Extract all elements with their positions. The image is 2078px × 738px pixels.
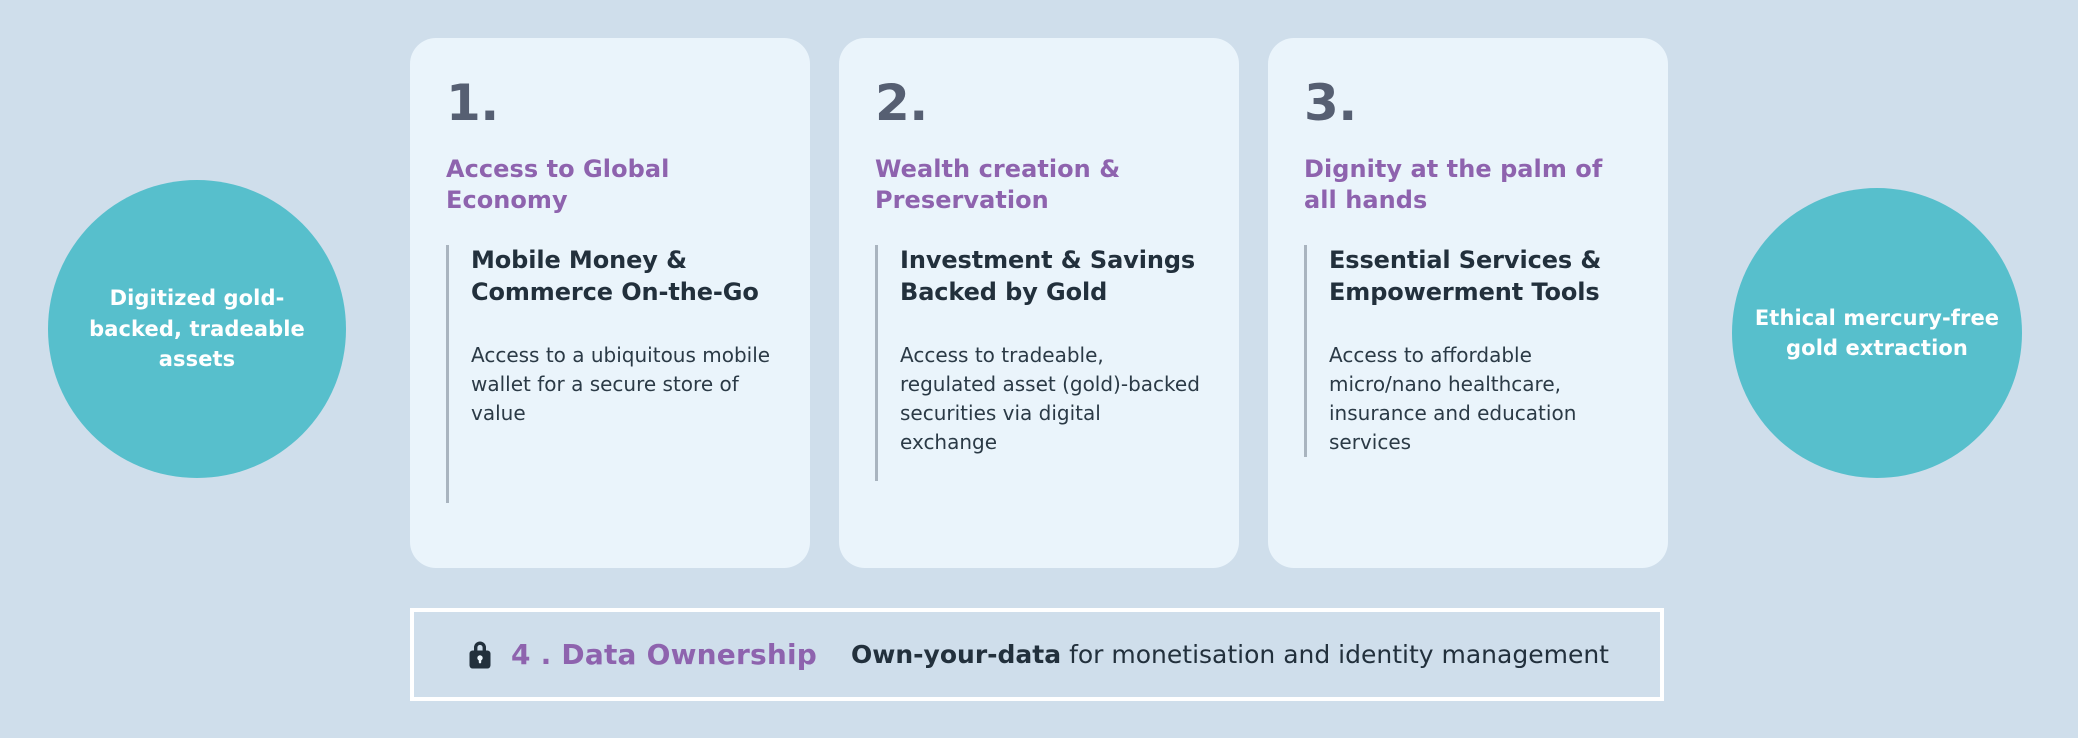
banner-bold-text: Own-your-data	[851, 640, 1061, 669]
card-subtitle: Essential Services & Empowerment Tools	[1329, 245, 1632, 308]
card-subtitle: Mobile Money & Commerce On-the-Go	[471, 245, 774, 308]
card-body-wrap: Essential Services & Empowerment Tools A…	[1304, 245, 1632, 456]
card-heading: Wealth creation & Preservation	[875, 154, 1203, 215]
diagram-canvas: Digitized gold-backed, tradeable assets …	[0, 0, 2078, 738]
card-description: Access to a ubiquitous mobile wallet for…	[471, 341, 774, 428]
card-heading: Access to Global Economy	[446, 154, 774, 215]
right-circle-badge: Ethical mercury-free gold extraction	[1732, 188, 2022, 478]
vertical-divider	[875, 245, 878, 481]
card-body: Mobile Money & Commerce On-the-Go Access…	[471, 245, 774, 503]
card-subtitle: Investment & Savings Backed by Gold	[900, 245, 1203, 308]
right-circle-label: Ethical mercury-free gold extraction	[1732, 303, 2022, 364]
card-body: Investment & Savings Backed by Gold Acce…	[900, 245, 1203, 481]
card-description: Access to affordable micro/nano healthca…	[1329, 341, 1632, 457]
card-body-wrap: Mobile Money & Commerce On-the-Go Access…	[446, 245, 774, 503]
card-body-wrap: Investment & Savings Backed by Gold Acce…	[875, 245, 1203, 481]
banner-rest-text: for monetisation and identity management	[1061, 640, 1609, 669]
pillar-card-group: 1. Access to Global Economy Mobile Money…	[410, 38, 1668, 568]
card-number: 3.	[1304, 78, 1632, 128]
vertical-divider	[446, 245, 449, 503]
card-body: Essential Services & Empowerment Tools A…	[1329, 245, 1632, 456]
banner-description: Own-your-data for monetisation and ident…	[851, 640, 1609, 669]
data-ownership-banner[interactable]: 4 . Data Ownership Own-your-data for mon…	[410, 608, 1664, 701]
card-heading: Dignity at the palm of all hands	[1304, 154, 1632, 215]
card-number: 1.	[446, 78, 774, 128]
card-number: 2.	[875, 78, 1203, 128]
card-description: Access to tradeable, regulated asset (go…	[900, 341, 1203, 457]
vertical-divider	[1304, 245, 1307, 456]
banner-number-label: 4 . Data Ownership	[511, 638, 817, 671]
pillar-card-2[interactable]: 2. Wealth creation & Preservation Invest…	[839, 38, 1239, 568]
pillar-card-3[interactable]: 3. Dignity at the palm of all hands Esse…	[1268, 38, 1668, 568]
lock-icon	[465, 638, 495, 672]
left-circle-badge: Digitized gold-backed, tradeable assets	[48, 180, 346, 478]
pillar-card-1[interactable]: 1. Access to Global Economy Mobile Money…	[410, 38, 810, 568]
left-circle-label: Digitized gold-backed, tradeable assets	[48, 283, 346, 374]
